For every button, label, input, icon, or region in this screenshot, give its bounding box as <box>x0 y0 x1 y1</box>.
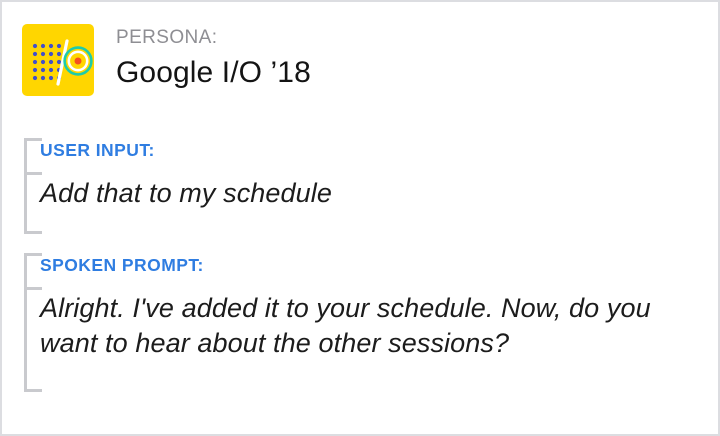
persona-name: Google I/O ’18 <box>116 54 311 92</box>
bracket-user-input <box>16 138 38 234</box>
section-text-user-input: Add that to my schedule <box>40 176 332 212</box>
section-label-user-input: USER INPUT: <box>40 138 332 160</box>
section-spoken-prompt: SPOKEN PROMPT: Alright. I've added it to… <box>16 253 690 362</box>
google-io-logo-icon <box>22 24 94 96</box>
section-text-spoken-prompt: Alright. I've added it to your schedule.… <box>40 291 690 363</box>
persona-dialog-card: PERSONA: Google I/O ’18 USER INPUT: Add … <box>0 0 720 436</box>
persona-label: PERSONA: <box>116 26 311 50</box>
section-label-spoken-prompt: SPOKEN PROMPT: <box>40 253 690 275</box>
section-user-input: USER INPUT: Add that to my schedule <box>16 138 332 211</box>
bracket-spoken-prompt <box>16 253 38 392</box>
persona-text-block: PERSONA: Google I/O ’18 <box>116 24 311 91</box>
persona-header: PERSONA: Google I/O ’18 <box>22 24 311 96</box>
